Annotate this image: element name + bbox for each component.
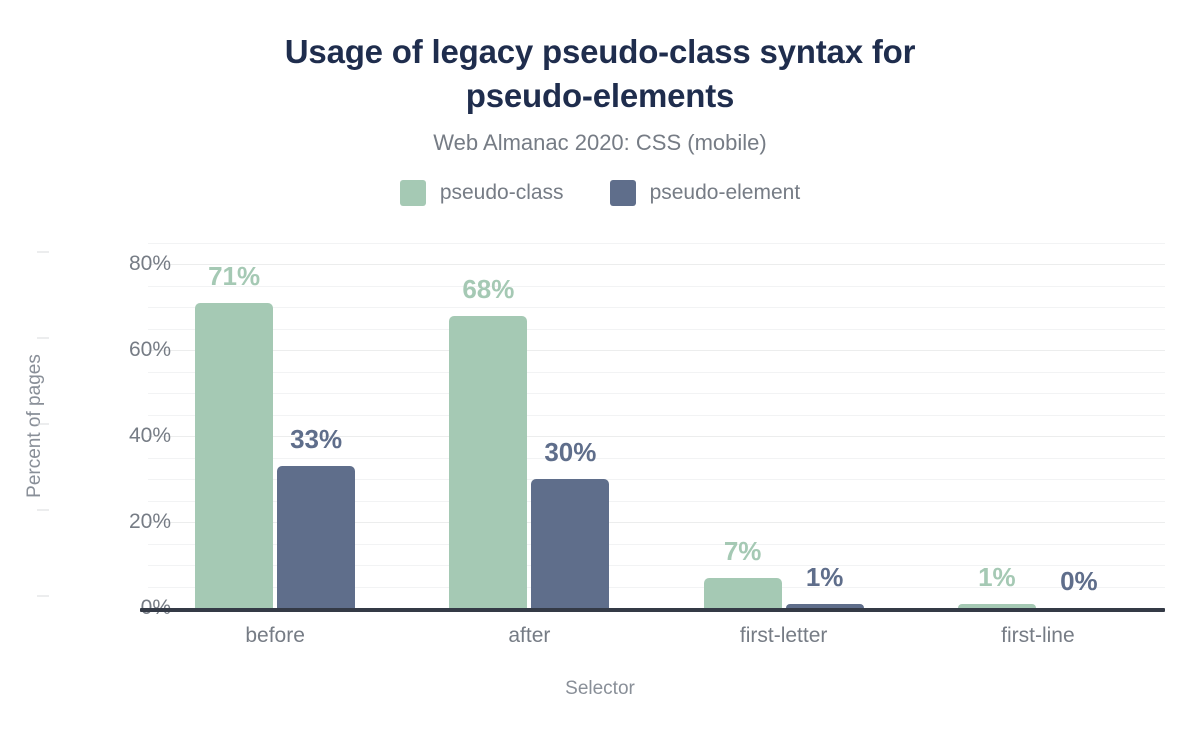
bar-value-label-before-pseudo-class: 71% (208, 261, 260, 292)
x-axis-tick-label-first-line: first-line (1001, 624, 1075, 648)
bar-before-pseudo-class[interactable] (195, 303, 273, 608)
bar-value-label-first-letter-pseudo-class: 7% (724, 536, 762, 567)
x-axis-tick-label-after: after (508, 624, 550, 648)
y-axis-tick-mark (37, 596, 49, 597)
chart-legend: pseudo-class pseudo-element (0, 180, 1200, 206)
chart-title-line-1: Usage of legacy pseudo-class syntax for (150, 30, 1050, 74)
bar-value-label-first-line-pseudo-element: 0% (1060, 566, 1098, 597)
x-axis-tick-label-first-letter: first-letter (740, 624, 828, 648)
legend-item-pseudo-element[interactable]: pseudo-element (610, 180, 801, 206)
y-axis-tick-mark (37, 252, 49, 253)
legend-swatch-icon-pseudo-class (400, 180, 426, 206)
bar-value-label-after-pseudo-element: 30% (544, 437, 596, 468)
y-axis-tick-label: 20% (51, 510, 171, 534)
y-axis-title: Percent of pages (20, 243, 50, 608)
chart-title: Usage of legacy pseudo-class syntax for … (150, 30, 1050, 117)
bars-layer: 71%33%68%30%7%1%1%0% (148, 243, 1165, 608)
y-axis-tick-label: 80% (51, 252, 171, 276)
bar-first-letter-pseudo-class[interactable] (704, 578, 782, 608)
chart-title-line-2: pseudo-elements (150, 74, 1050, 118)
legend-label-pseudo-class: pseudo-class (440, 181, 564, 205)
plot-area: 71%33%68%30%7%1%1%0% (148, 243, 1165, 608)
y-axis-tick-label: 40% (51, 424, 171, 448)
bar-value-label-first-line-pseudo-class: 1% (978, 562, 1016, 593)
chart-subtitle: Web Almanac 2020: CSS (mobile) (150, 130, 1050, 156)
y-axis-title-text: Percent of pages (24, 354, 46, 498)
bar-value-label-first-letter-pseudo-element: 1% (806, 562, 844, 593)
axis-baseline (140, 608, 1165, 612)
chart-figure: Usage of legacy pseudo-class syntax for … (0, 0, 1200, 742)
y-axis-tick-mark (37, 510, 49, 511)
y-axis-tick-label: 60% (51, 338, 171, 362)
bar-value-label-before-pseudo-element: 33% (290, 424, 342, 455)
y-axis-tick-mark (37, 424, 49, 425)
bar-before-pseudo-element[interactable] (277, 466, 355, 608)
bar-after-pseudo-class[interactable] (449, 316, 527, 608)
legend-item-pseudo-class[interactable]: pseudo-class (400, 180, 564, 206)
legend-swatch-icon-pseudo-element (610, 180, 636, 206)
bar-after-pseudo-element[interactable] (531, 479, 609, 608)
y-axis-tick-mark (37, 338, 49, 339)
bar-value-label-after-pseudo-class: 68% (462, 274, 514, 305)
x-axis-tick-label-before: before (245, 624, 305, 648)
x-axis-title: Selector (0, 678, 1200, 700)
legend-label-pseudo-element: pseudo-element (650, 181, 801, 205)
